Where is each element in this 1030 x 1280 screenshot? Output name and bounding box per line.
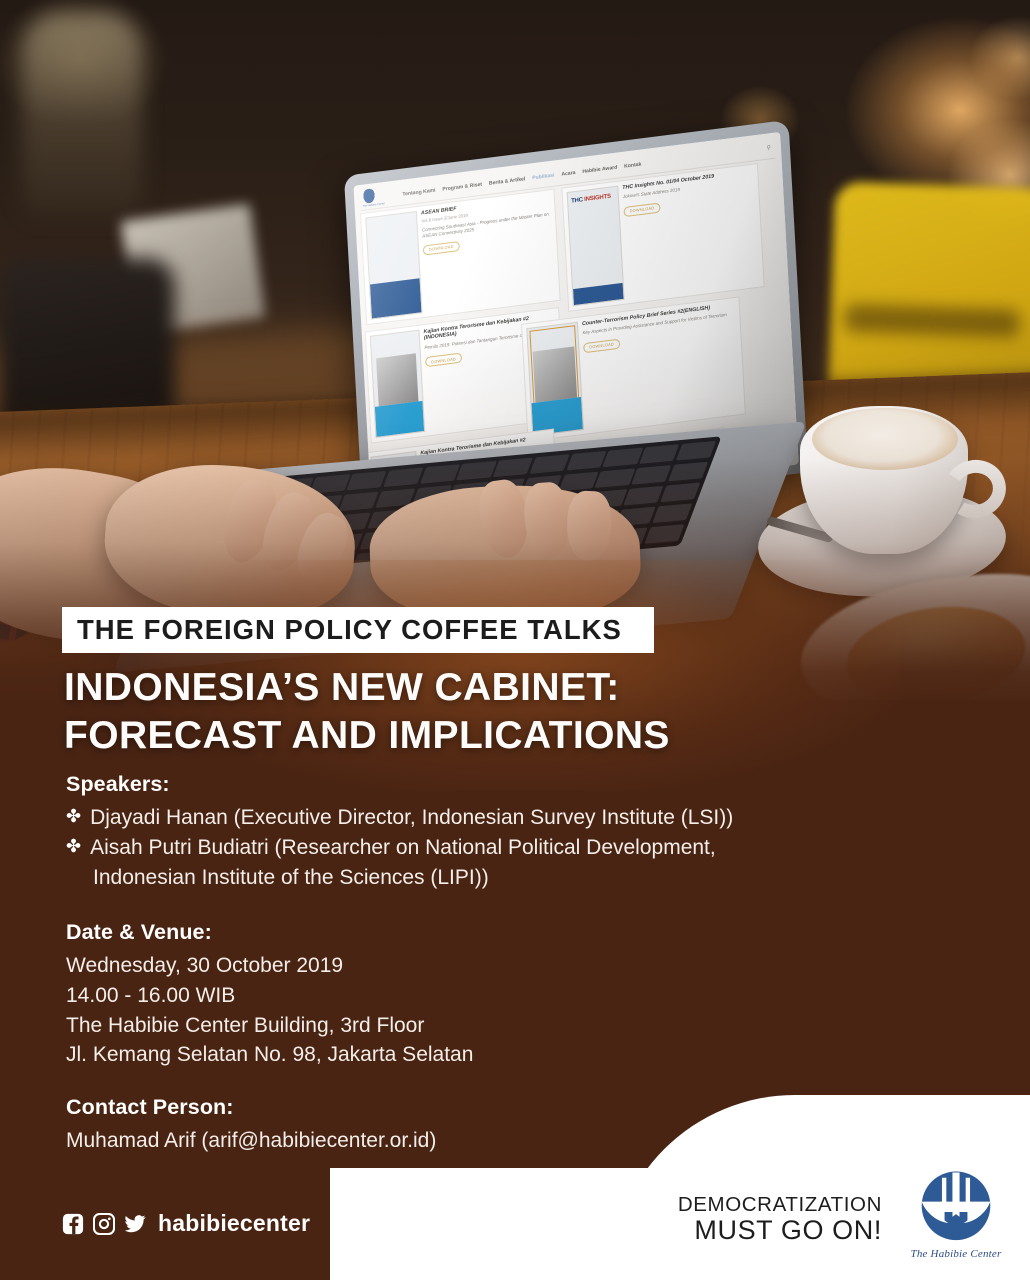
date-line: Wednesday, 30 October 2019: [66, 951, 473, 981]
speakers-section: Speakers: ✤ Djayadi Hanan (Executive Dir…: [66, 772, 733, 892]
nav-item-program-riset[interactable]: Program & Riset: [442, 181, 482, 192]
download-button[interactable]: DOWNLOAD: [623, 202, 660, 216]
tagline: DEMOCRATIZATION MUST GO ON!: [678, 1195, 882, 1245]
tagline-line-1: DEMOCRATIZATION: [678, 1195, 882, 1216]
contact-section: Contact Person: Muhamad Arif (arif@habib…: [66, 1095, 436, 1156]
event-poster: The Habibie Center Tentang Kami Program …: [0, 0, 1030, 1280]
speaker-name-2: Aisah Putri Budiatri (Researcher on Nati…: [90, 833, 716, 863]
venue-line: The Habibie Center Building, 3rd Floor: [66, 1011, 473, 1041]
contact-label: Contact Person:: [66, 1095, 436, 1120]
site-logo: The Habibie Center: [362, 187, 385, 208]
card-thumbnail: [365, 211, 422, 320]
nav-item-tentang-kami[interactable]: Tentang Kami: [402, 187, 435, 197]
kicker-banner: THE FOREIGN POLICY COFFEE TALKS: [62, 607, 654, 653]
cappuccino-foam: [812, 408, 958, 470]
habibie-center-logo: The Habibie Center: [904, 1166, 1008, 1262]
headline-line-1: INDONESIA’S NEW CABINET:: [64, 664, 964, 712]
card-thumbnail: THC INSIGHTS: [567, 186, 625, 307]
speaker-item: ✤ Aisah Putri Budiatri (Researcher on Na…: [66, 833, 733, 863]
speakers-label: Speakers:: [66, 772, 733, 797]
date-venue-section: Date & Venue: Wednesday, 30 October 2019…: [66, 920, 473, 1070]
social-media-bar: habibiecenter: [62, 1210, 310, 1237]
address-line: Jl. Kemang Selatan No. 98, Jakarta Selat…: [66, 1040, 473, 1070]
nav-item-publikasi[interactable]: Publikasi: [532, 172, 555, 181]
date-venue-label: Date & Venue:: [66, 920, 473, 945]
bullet-icon: ✤: [66, 803, 81, 831]
headline-line-2: FORECAST AND IMPLICATIONS: [64, 712, 964, 760]
download-button[interactable]: DOWNLOAD: [425, 353, 462, 367]
social-handle: habibiecenter: [158, 1210, 310, 1237]
card-thumbnail: [526, 322, 584, 437]
instagram-icon[interactable]: [93, 1213, 115, 1235]
logo-caption: The Habibie Center: [904, 1248, 1008, 1260]
publication-card[interactable]: THC INSIGHTS THC Insights No. 01/04 Octo…: [561, 163, 764, 312]
publication-card[interactable]: ASEAN BRIEF Vol.6 Issue 2/June 2019 Conn…: [360, 189, 561, 326]
twitter-icon[interactable]: [124, 1213, 146, 1235]
nav-item-kontak[interactable]: Kontak: [624, 161, 641, 169]
nav-item-acara[interactable]: Acara: [561, 169, 575, 177]
nav-item-habibie-award[interactable]: Habibie Award: [582, 164, 617, 174]
speaker-name-2-cont: Indonesian Institute of the Sciences (LI…: [66, 863, 733, 893]
bullet-icon: ✤: [66, 833, 81, 861]
habibie-center-emblem: [904, 1166, 1008, 1256]
search-icon[interactable]: ⚲: [766, 144, 771, 152]
contact-person: Muhamad Arif (arif@habibiecenter.or.id): [66, 1126, 436, 1156]
speaker-name-1: Djayadi Hanan (Executive Director, Indon…: [90, 803, 733, 833]
card-thumbnail: [370, 330, 425, 438]
page-title: INDONESIA’S NEW CABINET: FORECAST AND IM…: [64, 664, 964, 759]
nav-item-berita-artikel[interactable]: Berita & Artikel: [489, 176, 526, 187]
time-line: 14.00 - 16.00 WIB: [66, 981, 473, 1011]
download-button[interactable]: DOWNLOAD: [583, 339, 620, 353]
facebook-icon[interactable]: [62, 1213, 84, 1235]
speaker-item: ✤ Djayadi Hanan (Executive Director, Ind…: [66, 803, 733, 833]
download-button[interactable]: DOWNLOAD: [423, 241, 460, 255]
tagline-line-2: MUST GO ON!: [678, 1217, 882, 1244]
kicker-text: THE FOREIGN POLICY COFFEE TALKS: [62, 614, 622, 646]
